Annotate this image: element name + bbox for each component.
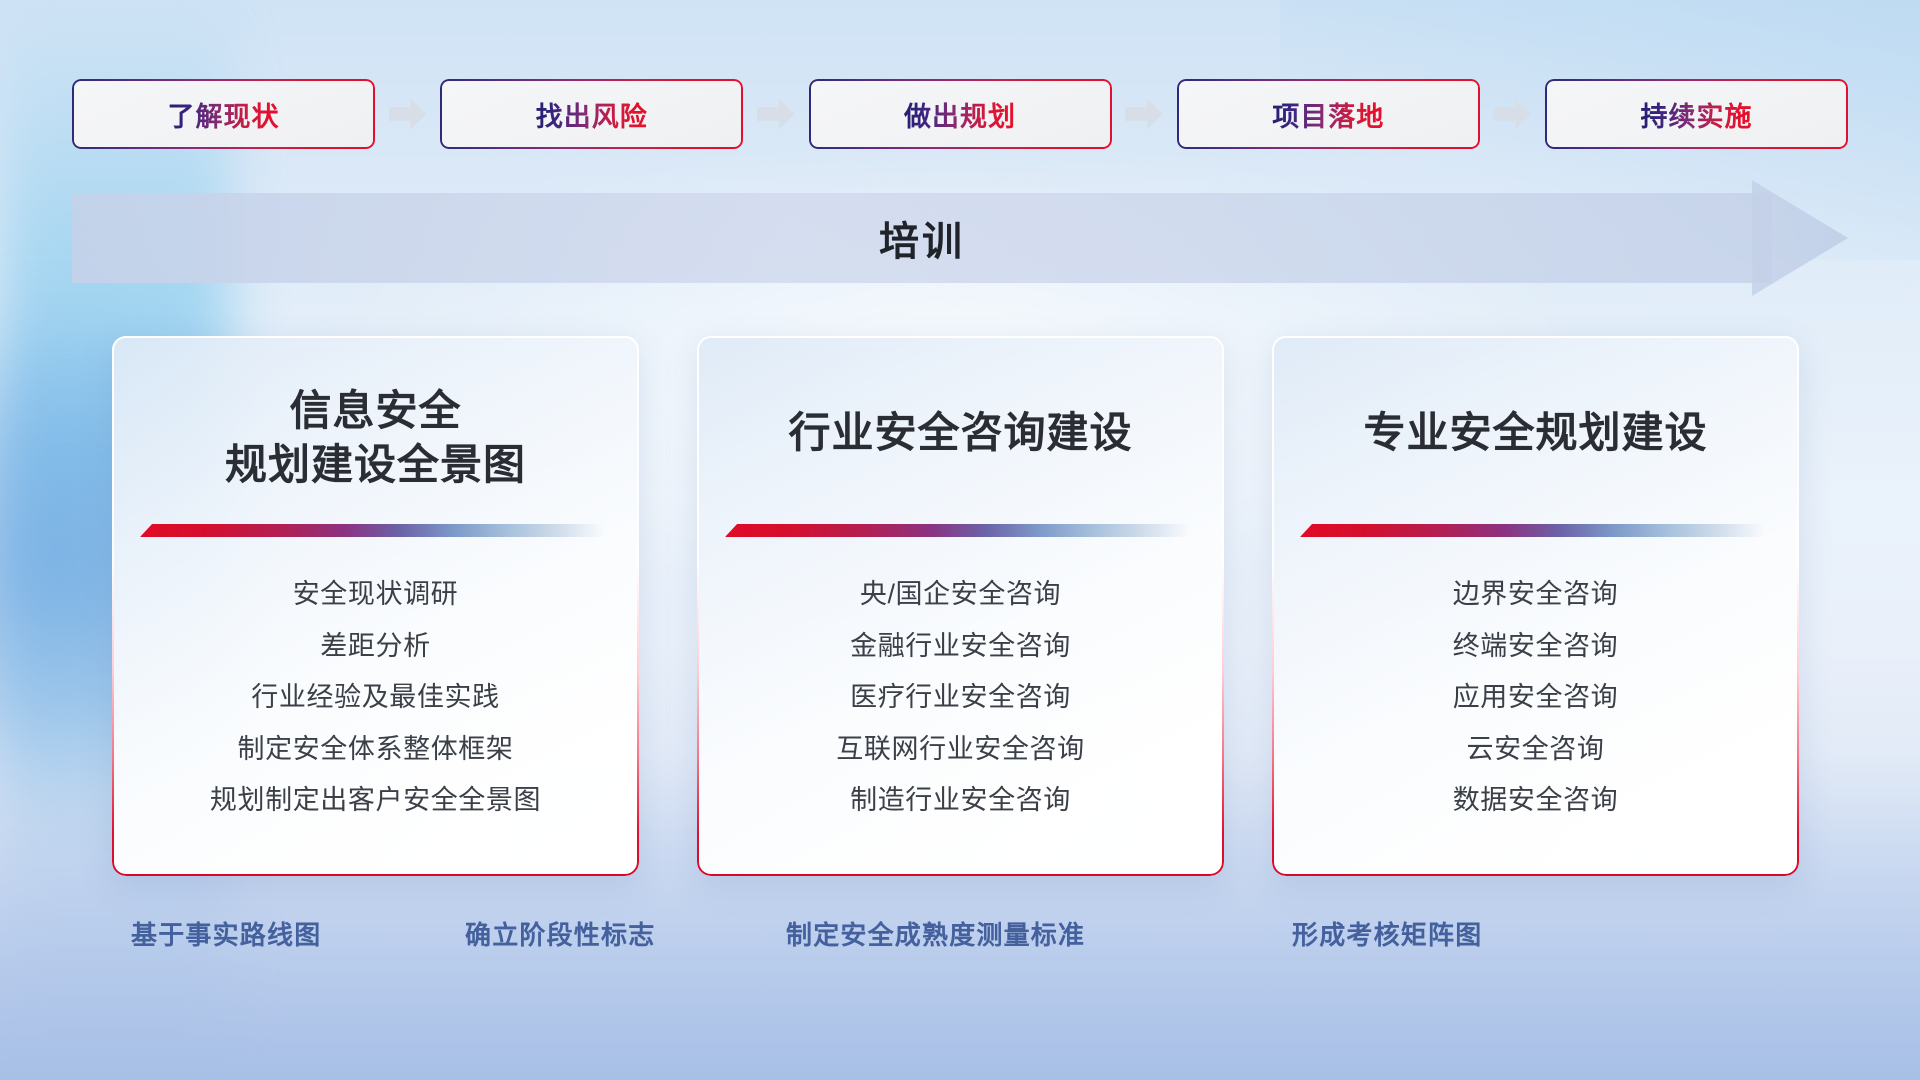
process-step-1[interactable]: 了解现状 [72,79,375,149]
training-banner: 培训 [72,193,1848,283]
card-1-gradient-divider [140,524,604,537]
list-item: 应用安全咨询 [1453,677,1619,718]
process-step-2-label: 找出风险 [536,95,648,134]
arrow-right-icon-1 [389,99,427,129]
card-3-title: 专业安全规划建设 [1272,406,1799,460]
process-step-1-wrap: 了解现状 [72,79,375,149]
list-item: 医疗行业安全咨询 [850,677,1071,718]
card-row: 信息安全 规划建设全景图 安全现状调研 差距分析 行业经验及最佳实践 制定安全体… [0,336,1920,876]
process-step-5-wrap: 持续实施 [1545,79,1848,149]
footer-label-roadmap: 基于事实路线图 [131,915,321,952]
process-step-4[interactable]: 项目落地 [1177,79,1480,149]
list-item: 差距分析 [320,626,430,667]
card-2-list: 央/国企安全咨询 金融行业安全咨询 医疗行业安全咨询 互联网行业安全咨询 制造行… [697,574,1224,821]
list-item: 数据安全咨询 [1453,780,1619,821]
process-step-4-wrap: 项目落地 [1177,79,1480,149]
list-item: 互联网行业安全咨询 [836,729,1084,770]
process-step-1-label: 了解现状 [168,95,280,134]
list-item: 规划制定出客户安全全景图 [210,780,541,821]
process-step-4-label: 项目落地 [1272,95,1384,134]
list-item: 制定安全体系整体框架 [238,729,514,770]
process-step-2[interactable]: 找出风险 [440,79,743,149]
footer-label-row: 基于事实路线图 确立阶段性标志 制定安全成熟度测量标准 形成考核矩阵图 [0,915,1920,969]
arrow-right-icon-2 [757,99,795,129]
arrow-right-icon-3 [1125,99,1163,129]
list-item: 终端安全咨询 [1453,626,1619,667]
footer-label-maturity-standard: 制定安全成熟度测量标准 [786,915,1085,952]
process-step-5-label: 持续实施 [1641,95,1753,134]
card-2-title: 行业安全咨询建设 [697,406,1224,460]
list-item: 金融行业安全咨询 [850,626,1071,667]
card-industry-security-consulting[interactable]: 行业安全咨询建设 央/国企安全咨询 金融行业安全咨询 医疗行业安全咨询 互联网行… [697,336,1224,876]
process-step-3-label: 做出规划 [904,95,1016,134]
card-professional-security-planning[interactable]: 专业安全规划建设 边界安全咨询 终端安全咨询 应用安全咨询 云安全咨询 数据安全… [1272,336,1799,876]
process-step-3[interactable]: 做出规划 [809,79,1112,149]
footer-label-milestones: 确立阶段性标志 [465,915,655,952]
process-step-5[interactable]: 持续实施 [1545,79,1848,149]
process-step-2-wrap: 找出风险 [440,79,743,149]
list-item: 央/国企安全咨询 [860,574,1061,615]
footer-label-assessment-matrix: 形成考核矩阵图 [1292,915,1482,952]
list-item: 行业经验及最佳实践 [251,677,499,718]
card-3-gradient-divider [1300,524,1764,537]
slide-stage: 了解现状 找出风险 做出规划 项目落地 持续实施 [0,0,1920,1080]
card-3-list: 边界安全咨询 终端安全咨询 应用安全咨询 云安全咨询 数据安全咨询 [1272,574,1799,821]
list-item: 制造行业安全咨询 [850,780,1071,821]
card-information-security-blueprint[interactable]: 信息安全 规划建设全景图 安全现状调研 差距分析 行业经验及最佳实践 制定安全体… [112,336,639,876]
list-item: 边界安全咨询 [1453,574,1619,615]
list-item: 安全现状调研 [293,574,459,615]
process-step-3-wrap: 做出规划 [809,79,1112,149]
card-1-title: 信息安全 规划建设全景图 [112,384,639,492]
arrow-right-icon-4 [1493,99,1531,129]
card-1-list: 安全现状调研 差距分析 行业经验及最佳实践 制定安全体系整体框架 规划制定出客户… [112,574,639,821]
training-banner-title: 培训 [72,193,1772,283]
card-2-gradient-divider [725,524,1189,537]
process-step-row: 了解现状 找出风险 做出规划 项目落地 持续实施 [72,78,1848,150]
list-item: 云安全咨询 [1467,729,1605,770]
